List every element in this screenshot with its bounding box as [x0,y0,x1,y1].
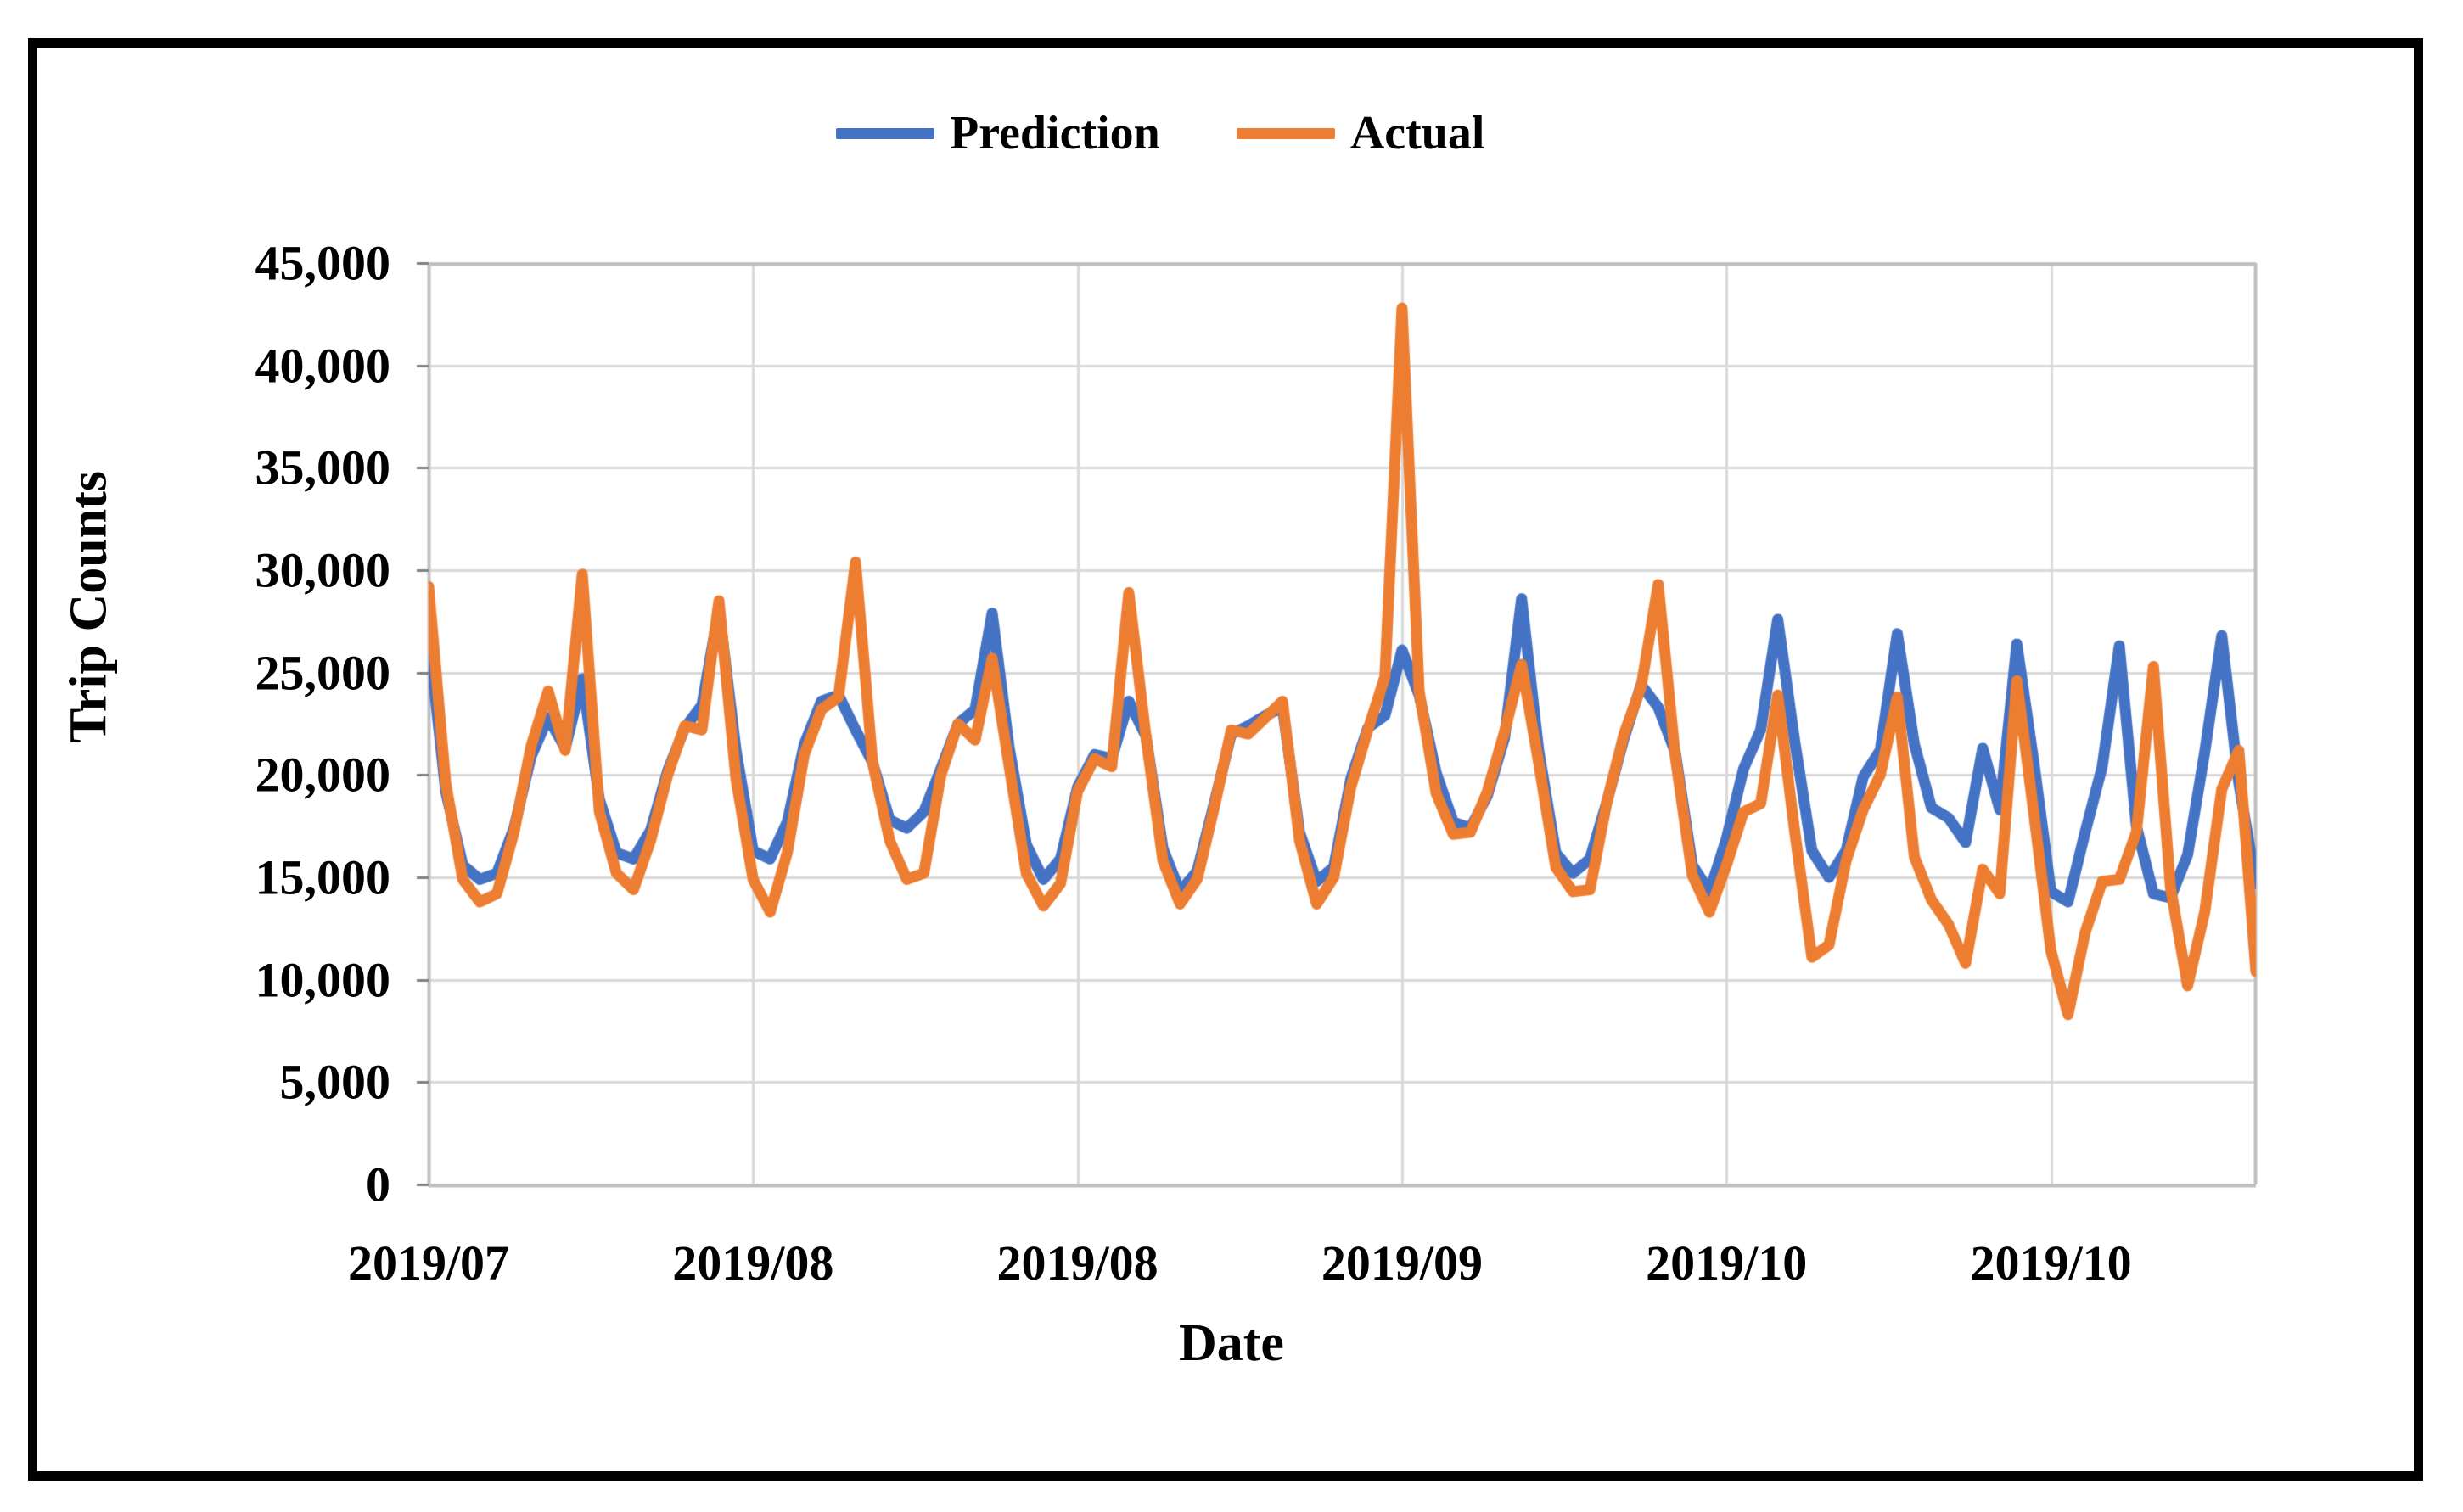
y-axis-tick-label: 25,000 [110,644,390,701]
legend-item-prediction: Prediction [836,106,1160,160]
y-axis-tick-label: 20,000 [110,747,390,804]
x-axis-tick-label: 2019/09 [1321,1235,1483,1291]
y-axis-tick-label: 5,000 [110,1054,390,1111]
legend-label-prediction: Prediction [950,106,1160,160]
legend-item-actual: Actual [1237,106,1485,160]
y-axis-tick-label: 35,000 [110,440,390,496]
y-axis-tick-label: 30,000 [110,542,390,599]
x-axis-tick-label: 2019/07 [348,1235,509,1291]
chart-legend: Prediction Actual [836,104,1484,163]
line-swatch-icon [1237,128,1335,139]
y-axis-tick-label: 45,000 [110,235,390,292]
figure-page: Prediction Actual Trip Counts Date 45,00… [0,0,2463,1512]
x-axis-tick-label: 2019/08 [672,1235,833,1291]
y-axis-tick-label: 40,000 [110,337,390,394]
y-axis-tick-label: 0 [110,1156,390,1213]
x-axis-title: Date [0,1313,2463,1374]
x-axis-tick-label: 2019/10 [1970,1235,2131,1291]
y-axis-tick-label: 15,000 [110,849,390,906]
x-axis-tick-label: 2019/10 [1646,1235,1807,1291]
y-axis-tick-label: 10,000 [110,951,390,1008]
legend-label-actual: Actual [1350,106,1485,160]
line-swatch-icon [836,128,934,139]
x-axis-tick-label: 2019/08 [997,1235,1159,1291]
